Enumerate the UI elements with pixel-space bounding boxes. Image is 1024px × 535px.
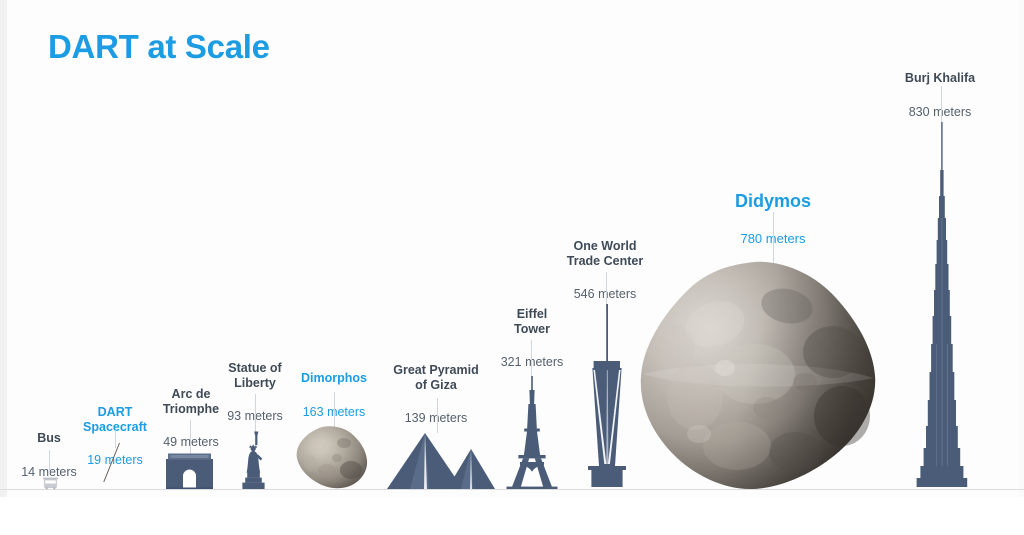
silhouette-statue-of-liberty: [239, 431, 273, 489]
leader-line-bus: [49, 450, 50, 474]
label-great-pyramid-of-giza-height: 139 meters: [380, 411, 492, 426]
silhouette-arc-de-triomphe: [166, 453, 213, 489]
silhouette-burj-khalifa: [911, 122, 973, 489]
label-statue-of-liberty-name: Statue of Liberty: [213, 361, 297, 391]
silhouette-great-pyramid-of-giza: [385, 433, 495, 489]
label-eiffel-tower-height: 321 meters: [490, 355, 574, 370]
label-great-pyramid-of-giza: Great Pyramid of Giza 139 meters: [380, 344, 492, 445]
asteroid-dimorphos: [294, 425, 370, 491]
label-didymos-name: Didymos: [688, 191, 858, 212]
leader-line-statue-of-liberty: [255, 394, 256, 433]
asteroid-didymos: [637, 256, 880, 498]
label-burj-khalifa-height: 830 meters: [884, 105, 996, 120]
left-edge-strip: [0, 0, 7, 535]
leader-line-burj-khalifa: [941, 86, 942, 122]
right-edge-strip: [1019, 0, 1024, 535]
leader-line-arc-de-triomphe: [190, 420, 191, 454]
leader-line-dart-spacecraft: [115, 430, 116, 448]
leader-line-eiffel-tower: [531, 340, 532, 378]
label-great-pyramid-of-giza-name: Great Pyramid of Giza: [380, 363, 492, 393]
page-title: DART at Scale: [48, 28, 270, 66]
leader-line-great-pyramid-of-giza: [437, 398, 438, 433]
label-burj-khalifa-name: Burj Khalifa: [884, 71, 996, 86]
silhouette-one-world-trade-center: [584, 304, 630, 489]
silhouette-bus: [42, 476, 59, 489]
infographic-canvas: DART at Scale Bus 14 meters DART Spacecr…: [0, 0, 1024, 535]
label-dimorphos-name: Dimorphos: [288, 371, 380, 386]
bottom-margin: [0, 497, 1024, 535]
silhouette-eiffel-tower: [506, 376, 558, 489]
